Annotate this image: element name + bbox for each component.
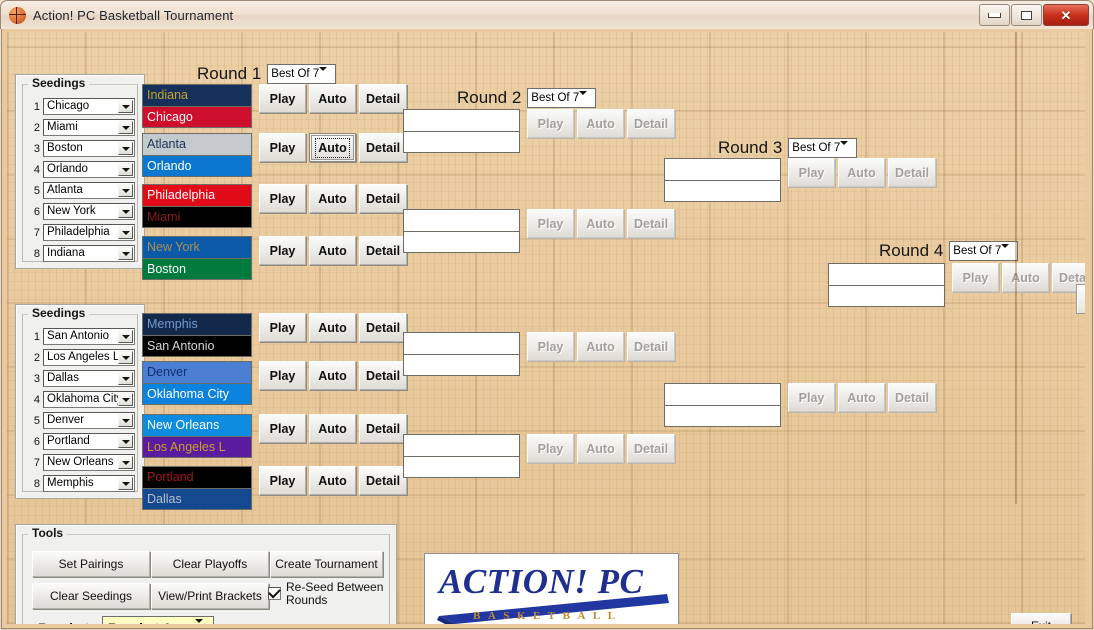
match-buttons: Play Auto Detail [527, 209, 678, 238]
seed-row-west-5: 5 Denver [27, 412, 135, 429]
team-top[interactable] [665, 384, 780, 405]
team-top[interactable]: New Orleans [143, 415, 251, 436]
auto-button: Auto [577, 434, 624, 463]
round-3-series-value: Best Of 7 [789, 140, 840, 156]
matchup-teams[interactable]: New York Boston [142, 236, 252, 280]
matchup-teams[interactable]: New Orleans Los Angeles L [142, 414, 252, 458]
round2-match-2: Play Auto Detail [403, 209, 678, 253]
team-top[interactable]: Atlanta [143, 134, 251, 155]
team-bottom[interactable] [404, 131, 519, 152]
close-button[interactable]: ✕ [1043, 4, 1089, 26]
team-top[interactable]: New York [143, 237, 251, 258]
matchup-teams[interactable] [403, 209, 520, 253]
seed-row-west-1: 1 San Antonio [27, 328, 135, 345]
tools-panel: Tools Set Pairings Clear Playoffs Create… [15, 524, 397, 624]
bracket-label: Bracket [38, 620, 89, 624]
auto-button: Auto [838, 158, 885, 187]
play-button[interactable]: Play [259, 361, 306, 390]
matchup-teams[interactable]: Memphis San Antonio [142, 313, 252, 357]
seed-row-west-3: 3 Dallas [27, 370, 135, 387]
maximize-icon [1021, 11, 1032, 20]
round1-match-4: New York Boston Play Auto Detail [142, 236, 410, 280]
matchup-teams[interactable] [403, 332, 520, 376]
round-3-label: Round 3 [718, 138, 782, 158]
seed-number: 7 [27, 457, 40, 469]
minimize-button[interactable] [979, 4, 1010, 26]
chevron-down-icon[interactable] [118, 121, 133, 134]
matchup-teams[interactable]: Portland Dallas [142, 466, 252, 510]
round3-match-2: Play Auto Detail [664, 383, 939, 427]
detail-button: Detail [888, 383, 936, 412]
round-2-label: Round 2 [457, 88, 521, 108]
detail-button: Detail [627, 109, 675, 138]
round-4-label: Round 4 [879, 241, 943, 261]
seed-number: 1 [27, 331, 40, 343]
chevron-down-icon[interactable] [118, 477, 133, 490]
chevron-down-icon[interactable] [319, 67, 335, 82]
team-bottom[interactable] [665, 180, 780, 201]
seedings-west-legend: Seedings [28, 306, 89, 320]
round-4-series-select[interactable]: Best Of 7 [949, 241, 1018, 261]
seed-number: 3 [27, 373, 40, 385]
chevron-down-icon[interactable] [118, 184, 133, 197]
round2-match-3: Play Auto Detail [403, 332, 678, 376]
auto-button: Auto [577, 109, 624, 138]
minimize-icon [988, 13, 1001, 18]
chevron-down-icon[interactable] [118, 163, 133, 176]
seed-team-value: Los Angeles L [44, 350, 118, 365]
team-bottom[interactable]: Chicago [143, 106, 251, 127]
detail-button: Detail [627, 209, 675, 238]
seed-row-east-1: 1 Chicago [27, 98, 135, 115]
chevron-down-icon[interactable] [118, 456, 133, 469]
seed-team-value: Portland [44, 434, 118, 449]
detail-button[interactable]: Detail [359, 361, 407, 390]
match-buttons: Play Auto Detail [259, 236, 410, 265]
set-pairings-button[interactable]: Set Pairings [32, 551, 150, 577]
seed-select-west-8[interactable]: Memphis [43, 475, 135, 492]
seed-number: 4 [27, 394, 40, 406]
match-buttons: Play Auto Detail [259, 361, 410, 390]
seed-select-west-1[interactable]: San Antonio [43, 328, 135, 345]
detail-button: Detail [627, 434, 675, 463]
window-title: Action! PC Basketball Tournament [33, 8, 233, 23]
detail-button[interactable]: Detail [359, 466, 407, 495]
round2-match-4: Play Auto Detail [403, 434, 678, 478]
chevron-down-icon[interactable] [118, 100, 133, 113]
team-bottom[interactable]: Orlando [143, 155, 251, 176]
seed-select-west-5[interactable]: Denver [43, 412, 135, 429]
bracket-select[interactable]: Bracket 1 [102, 616, 214, 624]
round1-match-2: Atlanta Orlando Play Auto Detail [142, 133, 410, 177]
detail-button[interactable]: Detail [359, 184, 407, 213]
seed-number: 5 [27, 185, 40, 197]
round2-match-1: Play Auto Detail [403, 109, 678, 153]
play-button[interactable]: Play [259, 236, 306, 265]
play-button[interactable]: Play [259, 84, 306, 113]
action-pc-logo: ACTION! PC BASKETBALL [424, 553, 679, 624]
play-button: Play [527, 434, 574, 463]
logo-title: ACTION! PC [439, 562, 643, 602]
match-buttons: Play Auto Detail [259, 184, 410, 213]
play-button: Play [788, 158, 835, 187]
chevron-down-icon[interactable] [118, 372, 133, 385]
team-bottom[interactable] [404, 354, 519, 375]
detail-button[interactable]: Detail [359, 133, 407, 162]
round-4-header: Round 4 Best Of 7 [879, 241, 1018, 261]
seed-select-east-3[interactable]: Boston [43, 140, 135, 157]
seed-row-east-2: 2 Miami [27, 119, 135, 136]
seed-number: 4 [27, 164, 40, 176]
seed-team-value: Memphis [44, 476, 118, 491]
team-top[interactable]: Philadelphia [143, 185, 251, 206]
seed-team-value: Denver [44, 413, 118, 428]
reseed-label: Re-Seed Between Rounds [286, 581, 383, 607]
chevron-down-icon[interactable] [840, 141, 856, 156]
chevron-down-icon[interactable] [118, 142, 133, 155]
seed-number: 8 [27, 248, 40, 260]
view-print-brackets-button[interactable]: View/Print Brackets [151, 583, 269, 609]
seedings-west-panel: Seedings 1 San Antonio 2 Los Angeles L [15, 304, 145, 499]
chevron-down-icon[interactable] [118, 205, 133, 218]
team-top[interactable] [665, 159, 780, 180]
play-button: Play [527, 209, 574, 238]
team-bottom[interactable]: San Antonio [143, 335, 251, 356]
title-bar: Action! PC Basketball Tournament ✕ [0, 0, 1094, 29]
match-buttons: Play Auto Detail [259, 466, 410, 495]
team-top[interactable]: Indiana [143, 85, 251, 106]
seed-number: 2 [27, 122, 40, 134]
matchup-teams[interactable]: Indiana Chicago [142, 84, 252, 128]
seed-number: 6 [27, 206, 40, 218]
matchup-teams[interactable]: Denver Oklahoma City [142, 361, 252, 405]
auto-button[interactable]: Auto [309, 466, 356, 495]
round1-match-6: Denver Oklahoma City Play Auto Detail [142, 361, 410, 405]
round1-match-8: Portland Dallas Play Auto Detail [142, 466, 410, 510]
seed-select-east-4[interactable]: Orlando [43, 161, 135, 178]
seed-select-west-7[interactable]: New Orleans [43, 454, 135, 471]
team-bottom[interactable]: Miami [143, 206, 251, 227]
seed-number: 8 [27, 478, 40, 490]
seed-number: 6 [27, 436, 40, 448]
detail-button: Detail [627, 332, 675, 361]
seed-row-west-7: 7 New Orleans [27, 454, 135, 471]
seed-row-east-8: 8 Indiana [27, 245, 135, 262]
seed-select-east-2[interactable]: Miami [43, 119, 135, 136]
play-button: Play [952, 263, 999, 292]
seed-team-value: Oklahoma City [44, 392, 118, 407]
detail-button[interactable]: Detail [359, 414, 407, 443]
seed-team-value: Indiana [44, 246, 118, 261]
application-window: Action! PC Basketball Tournament ✕ Round… [0, 0, 1094, 630]
window-controls: ✕ [979, 4, 1089, 26]
round-2-series-select[interactable]: Best Of 7 [527, 88, 596, 108]
seed-select-east-6[interactable]: New York [43, 203, 135, 220]
seed-row-west-2: 2 Los Angeles L [27, 349, 135, 366]
team-top[interactable]: Portland [143, 467, 251, 488]
chevron-down-icon[interactable] [118, 247, 133, 260]
match-buttons: Play Auto Detail [788, 383, 939, 412]
match-buttons: Play Auto Detail [527, 434, 678, 463]
detail-button[interactable]: Detail [359, 84, 407, 113]
detail-button[interactable]: Detail [359, 236, 407, 265]
round-1-header: Round 1 Best Of 7 [197, 64, 336, 84]
auto-button: Auto [577, 209, 624, 238]
match-buttons: Play Auto Detail [259, 133, 410, 162]
seed-row-west-4: 4 Oklahoma City [27, 391, 135, 408]
play-button[interactable]: Play [259, 313, 306, 342]
match-buttons: Play Auto Detail [527, 109, 678, 138]
basketball-icon [9, 7, 26, 24]
seed-number: 2 [27, 352, 40, 364]
seed-team-value: Dallas [44, 371, 118, 386]
clear-playoffs-button[interactable]: Clear Playoffs [151, 551, 269, 577]
match-buttons: Play Auto Detail [259, 414, 410, 443]
play-button[interactable]: Play [259, 184, 306, 213]
seed-number: 7 [27, 227, 40, 239]
tools-legend: Tools [28, 526, 67, 540]
team-top[interactable]: Memphis [143, 314, 251, 335]
seed-row-east-5: 5 Atlanta [27, 182, 135, 199]
chevron-down-icon[interactable] [118, 414, 133, 427]
seed-number: 1 [27, 101, 40, 113]
auto-button[interactable]: Auto [309, 414, 356, 443]
seed-row-east-3: 3 Boston [27, 140, 135, 157]
seed-team-value: Orlando [44, 162, 118, 177]
detail-button: Detail [888, 158, 936, 187]
chevron-down-icon[interactable] [195, 619, 213, 624]
auto-button[interactable]: Auto [309, 184, 356, 213]
team-bottom[interactable]: Boston [143, 258, 251, 279]
round1-match-3: Philadelphia Miami Play Auto Detail [142, 184, 410, 228]
team-top[interactable] [404, 333, 519, 354]
round-2-series-value: Best Of 7 [528, 90, 579, 106]
clear-seedings-button[interactable]: Clear Seedings [32, 583, 150, 609]
matchup-teams[interactable] [403, 109, 520, 153]
chevron-down-icon[interactable] [118, 435, 133, 448]
matchup-teams[interactable] [403, 434, 520, 478]
auto-button[interactable]: Auto [309, 133, 356, 162]
auto-button: Auto [1002, 263, 1049, 292]
logo-subtitle: BASKETBALL [473, 610, 623, 622]
seed-select-east-5[interactable]: Atlanta [43, 182, 135, 199]
team-bottom[interactable]: Dallas [143, 488, 251, 509]
seed-select-west-4[interactable]: Oklahoma City [43, 391, 135, 408]
reseed-checkbox[interactable] [268, 587, 281, 600]
play-button: Play [788, 383, 835, 412]
seed-select-east-1[interactable]: Chicago [43, 98, 135, 115]
chevron-down-icon[interactable] [118, 330, 133, 343]
seed-row-west-8: 8 Memphis [27, 475, 135, 492]
round-4-series-value: Best Of 7 [950, 243, 1001, 259]
seed-select-west-2[interactable]: Los Angeles L [43, 349, 135, 366]
match-buttons: Play Auto Detail [788, 158, 939, 187]
chevron-down-icon[interactable] [579, 91, 595, 106]
matchup-teams[interactable]: Atlanta Orlando [142, 133, 252, 177]
seedings-east-panel: Seedings 1 Chicago 2 Miami 3 [15, 74, 145, 269]
round1-match-1: Indiana Chicago Play Auto Detail [142, 84, 410, 128]
close-icon: ✕ [1061, 9, 1072, 22]
team-bottom[interactable] [404, 456, 519, 477]
maximize-button[interactable] [1011, 4, 1042, 26]
chevron-down-icon[interactable] [1001, 244, 1017, 259]
round-3-series-select[interactable]: Best Of 7 [788, 138, 857, 158]
seed-team-value: San Antonio [44, 329, 118, 344]
seed-team-value: Philadelphia [44, 225, 118, 240]
match-buttons: Play Auto Detail [259, 84, 410, 113]
team-bottom[interactable]: Oklahoma City [143, 383, 251, 404]
seed-select-east-7[interactable]: Philadelphia [43, 224, 135, 241]
auto-button: Auto [838, 383, 885, 412]
seed-team-value: Miami [44, 120, 118, 135]
create-tournament-button[interactable]: Create Tournament [270, 551, 383, 577]
team-top[interactable] [404, 110, 519, 131]
matchup-teams[interactable] [664, 158, 781, 202]
round1-match-7: New Orleans Los Angeles L Play Auto Deta… [142, 414, 410, 458]
team-bottom[interactable] [829, 285, 944, 306]
chevron-down-icon[interactable] [118, 351, 133, 364]
match-buttons: Play Auto Detail [527, 332, 678, 361]
chevron-down-icon[interactable] [118, 393, 133, 406]
round3-match-1: Play Auto Detail [664, 158, 939, 202]
seed-team-value: Chicago [44, 99, 118, 114]
round-1-series-value: Best Of 7 [268, 66, 319, 82]
play-button[interactable]: Play [259, 414, 306, 443]
team-bottom[interactable] [665, 405, 780, 426]
exit-button[interactable]: Exit [1011, 613, 1071, 624]
round1-match-5: Memphis San Antonio Play Auto Detail [142, 313, 410, 357]
team-top[interactable] [404, 435, 519, 456]
auto-button[interactable]: Auto [309, 236, 356, 265]
play-button: Play [527, 109, 574, 138]
seed-row-west-6: 6 Portland [27, 433, 135, 450]
match-buttons: Play Auto Detail [259, 313, 410, 342]
matchup-teams[interactable] [664, 383, 781, 427]
play-button[interactable]: Play [259, 466, 306, 495]
seed-team-value: New York [44, 204, 118, 219]
round-2-header: Round 2 Best Of 7 [457, 88, 596, 108]
check-icon [268, 586, 281, 599]
team-top[interactable] [829, 264, 944, 285]
detail-button[interactable]: Detail [359, 313, 407, 342]
matchup-teams[interactable]: Philadelphia Miami [142, 184, 252, 228]
seed-row-east-7: 7 Philadelphia [27, 224, 135, 241]
play-button: Play [527, 332, 574, 361]
round-1-label: Round 1 [197, 64, 261, 84]
team-bottom[interactable]: Los Angeles L [143, 436, 251, 457]
court-background: Round 1 Best Of 7 Round 2 Best Of 7 Roun… [7, 32, 1085, 624]
auto-button: Auto [577, 332, 624, 361]
seed-select-west-6[interactable]: Portland [43, 433, 135, 450]
seed-team-value: Boston [44, 141, 118, 156]
seed-team-value: New Orleans [44, 455, 118, 470]
team-bottom[interactable] [404, 231, 519, 252]
team-top[interactable] [404, 210, 519, 231]
seed-select-east-8[interactable]: Indiana [43, 245, 135, 262]
chevron-down-icon[interactable] [118, 226, 133, 239]
auto-button[interactable]: Auto [309, 313, 356, 342]
seed-number: 3 [27, 143, 40, 155]
auto-button[interactable]: Auto [309, 84, 356, 113]
match-buttons: Play Auto Detail [952, 263, 1085, 292]
window-client-area: Round 1 Best Of 7 Round 2 Best Of 7 Roun… [1, 29, 1093, 629]
seedings-east-legend: Seedings [28, 76, 89, 90]
round-1-series-select[interactable]: Best Of 7 [267, 64, 336, 84]
round4-match-1: Play Auto Detail [828, 263, 1085, 307]
seed-row-east-6: 6 New York [27, 203, 135, 220]
auto-button[interactable]: Auto [309, 361, 356, 390]
play-button[interactable]: Play [259, 133, 306, 162]
seed-row-east-4: 4 Orlando [27, 161, 135, 178]
bracket-value: Bracket 1 [103, 620, 195, 624]
seed-team-value: Atlanta [44, 183, 118, 198]
matchup-teams[interactable] [828, 263, 945, 307]
seed-select-west-3[interactable]: Dallas [43, 370, 135, 387]
team-top[interactable]: Denver [143, 362, 251, 383]
vertical-scrollbar-thumb[interactable] [1076, 284, 1085, 314]
seed-number: 5 [27, 415, 40, 427]
exit-label: Exit [1031, 619, 1051, 625]
round-3-header: Round 3 Best Of 7 [718, 138, 857, 158]
